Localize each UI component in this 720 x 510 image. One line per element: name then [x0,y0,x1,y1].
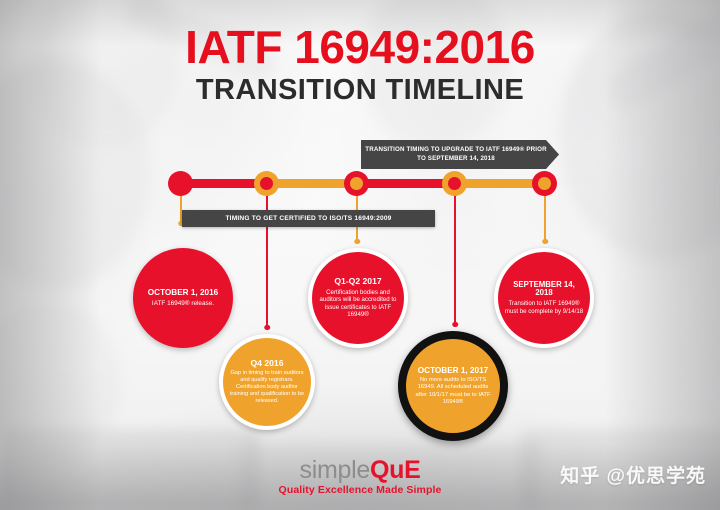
milestone-oct-2017[interactable]: OCTOBER 1, 2017 No more audits to ISO/TS… [398,331,508,441]
infographic-canvas: IATF 16949:2016 TRANSITION TIMELINE [0,0,720,510]
page-subtitle: TRANSITION TIMELINE [0,75,720,105]
milestone-title: OCTOBER 1, 2017 [418,366,488,375]
milestone-body: Certification bodies and auditors will b… [318,289,398,319]
banner-upgrade-timing: TRANSITION TIMING TO UPGRADE TO IATF 169… [361,140,559,169]
banner-certified-timing: TIMING TO GET CERTIFIED TO ISO/TS 16949:… [182,210,435,227]
milestone-title: SEPTEMBER 14, 2018 [504,281,584,298]
milestone-title: Q4 2016 [251,359,284,369]
logo-que-text: QuE [370,456,421,484]
logo-simple-text: simple [300,456,370,484]
milestone-q4-2016[interactable]: Q4 2016 Gap in timing to train auditors … [219,334,315,430]
milestone-body: No more audits to ISO/TS 16949. All sche… [412,377,494,406]
watermark: 知乎 @优思学苑 [560,461,706,488]
header: IATF 16949:2016 TRANSITION TIMELINE [0,24,720,105]
milestone-q1-q2-2017[interactable]: Q1-Q2 2017 Certification bodies and audi… [308,248,408,348]
milestone-oct-2016[interactable]: OCTOBER 1, 2016 IATF 16949® release. [133,248,233,348]
page-title: IATF 16949:2016 [0,24,720,71]
milestone-sep-2018[interactable]: SEPTEMBER 14, 2018 Transition to IATF 16… [494,248,594,348]
milestone-body: Transition to IATF 16949® must be comple… [504,300,584,315]
milestone-body: IATF 16949® release. [152,300,214,308]
milestone-title: OCTOBER 1, 2016 [148,288,218,297]
milestone-title: Q1-Q2 2017 [334,277,381,287]
milestone-body: Gap in timing to train auditors and qual… [229,370,305,405]
